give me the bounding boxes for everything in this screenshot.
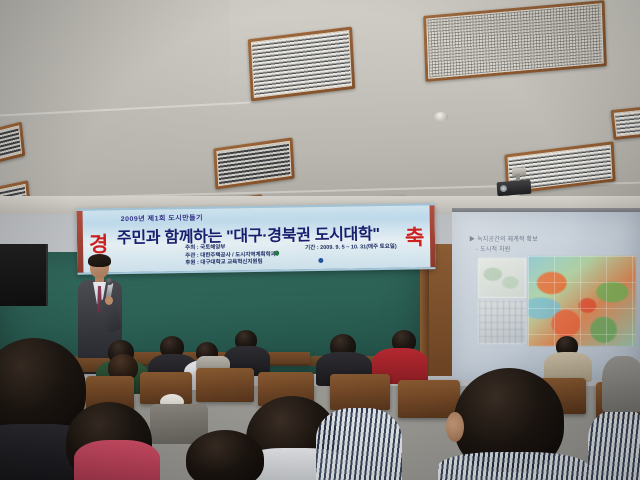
- banner-left-character: 경: [89, 234, 108, 255]
- seat-back: [330, 374, 390, 410]
- presenter-hand: [105, 296, 113, 305]
- slide-aerial-image: [478, 300, 526, 344]
- event-banner: 경 축 2009년 제1회 도시만들기 주민과 함께하는 "대구·경북권 도시대…: [77, 203, 436, 275]
- audience-head-foreground: [186, 430, 264, 480]
- vent-grille: [216, 141, 291, 186]
- district-logo-icon: [318, 258, 323, 263]
- slide-bullet-1: ▶ 녹지공간의 체계적 확보: [469, 234, 538, 243]
- slide-site-plan-image: [478, 258, 526, 298]
- audience-shoulders-foreground: [588, 410, 640, 480]
- audience-shoulders: [602, 356, 640, 412]
- slide-map-grid: [528, 256, 636, 346]
- banner-credits: 주최 : 국토해양부 주관 : 대한주택공사 / 도시지역계획학과 / 후원 :…: [185, 244, 279, 268]
- projector-lens-icon: [500, 185, 507, 192]
- lecture-hall-photo: ▶ 녹지공간의 체계적 확보 - 도시적 차원 경 축 2009년 제1회 도시…: [0, 0, 640, 480]
- projection-screen: ▶ 녹지공간의 체계적 확보 - 도시적 차원: [452, 212, 640, 380]
- audience-shoulders-foreground: [316, 408, 402, 480]
- audience-shoulders-foreground: [74, 440, 160, 480]
- banner-sponsor-line: 후원 : 대구대학교 교육혁신지원팀: [185, 259, 279, 268]
- ac-mesh-grille: [426, 3, 603, 78]
- ceiling-vent: [248, 27, 355, 102]
- banner-period-text: 기간 : 2009. 9. 5 ~ 10. 31(매주 토요일): [305, 242, 397, 251]
- ceiling-sprinkler-icon: [434, 112, 448, 121]
- audience-ear: [446, 412, 464, 442]
- wall-speaker: [0, 244, 48, 306]
- ceiling-vent: [611, 106, 640, 140]
- slide-bullet-2: - 도시적 차원: [476, 244, 511, 253]
- microphone-head-icon: [106, 278, 113, 285]
- seat-back: [196, 368, 254, 402]
- vent-grille: [614, 109, 640, 136]
- banner-right-character: 축: [405, 227, 424, 248]
- organizer-logo-icon: [274, 251, 279, 256]
- vent-grille: [0, 125, 22, 160]
- presenter-hair: [88, 254, 111, 267]
- audience-shoulders-foreground: [438, 452, 588, 480]
- banner-right-stripe: [429, 205, 435, 267]
- vent-grille: [251, 30, 352, 98]
